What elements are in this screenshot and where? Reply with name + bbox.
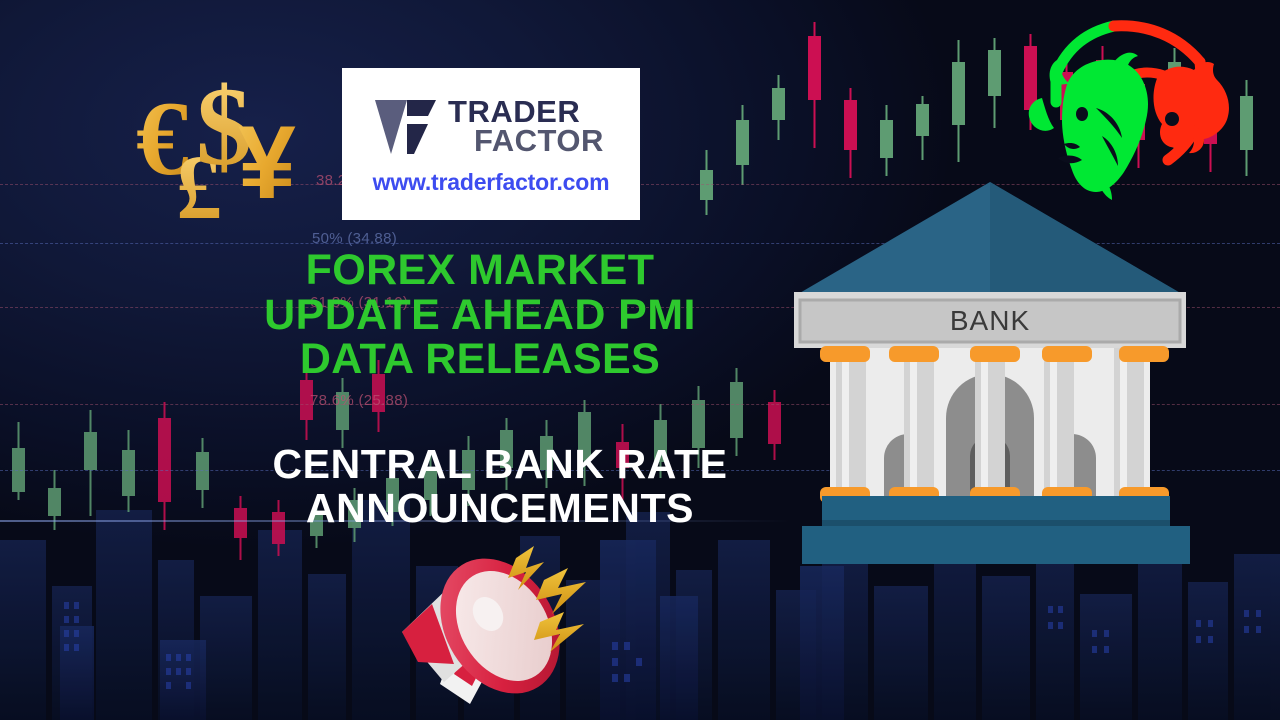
logo-f-stem xyxy=(407,124,428,154)
logo-website-url[interactable]: www.traderfactor.com xyxy=(373,169,610,196)
currency-symbols-cluster: € £ $ ¥ xyxy=(128,62,318,238)
logo-f-top-bar xyxy=(407,100,436,116)
bull-head-icon xyxy=(1029,53,1148,192)
candlestick xyxy=(916,96,929,160)
primary-headline-line-1: FOREX MARKET xyxy=(160,248,800,293)
secondary-headline-line-1: CENTRAL BANK RATE xyxy=(150,442,850,486)
logo-line-factor: FACTOR xyxy=(448,127,604,156)
candlestick xyxy=(122,430,135,512)
primary-headline-line-3: DATA RELEASES xyxy=(160,337,800,382)
fib-label-500: 50% (34.88) xyxy=(312,230,397,247)
candlestick xyxy=(880,105,893,176)
megaphone-announcement-icon xyxy=(388,528,622,720)
candlestick xyxy=(736,105,749,185)
secondary-headline-line-2: ANNOUNCEMENTS xyxy=(150,486,850,530)
candlestick xyxy=(952,40,965,162)
candlestick xyxy=(84,410,97,516)
candlestick xyxy=(988,38,1001,128)
bank-base-platform xyxy=(802,526,1190,564)
candlestick xyxy=(12,422,25,500)
bear-head-icon xyxy=(1153,62,1228,148)
promo-banner: 38.2% 50% (34.88) 61.8% (31.10) 78.6% (2… xyxy=(0,0,1280,720)
primary-headline-line-2: UPDATE AHEAD PMI xyxy=(160,293,800,338)
candlestick xyxy=(700,150,713,215)
logo-wordmark: TRADER FACTOR xyxy=(448,98,604,156)
logo-row: TRADER FACTOR xyxy=(374,98,604,156)
fib-label-786: 78.6% (25.88) xyxy=(310,392,408,409)
traderfactor-logo-card[interactable]: TRADER FACTOR www.traderfactor.com xyxy=(342,68,640,220)
candlestick xyxy=(844,88,857,178)
candlestick xyxy=(772,75,785,140)
yen-symbol: ¥ xyxy=(238,105,296,221)
secondary-headline: CENTRAL BANK RATE ANNOUNCEMENTS xyxy=(150,442,850,531)
logo-triangle xyxy=(375,100,407,154)
candlestick xyxy=(336,378,349,448)
bank-sign-label: BANK xyxy=(950,305,1030,336)
candlestick xyxy=(808,22,821,148)
traderfactor-f-logo xyxy=(374,98,436,156)
primary-headline: FOREX MARKET UPDATE AHEAD PMI DATA RELEA… xyxy=(160,248,800,382)
bank-plinth xyxy=(822,496,1170,524)
bull-and-bear-logo xyxy=(1022,16,1254,204)
